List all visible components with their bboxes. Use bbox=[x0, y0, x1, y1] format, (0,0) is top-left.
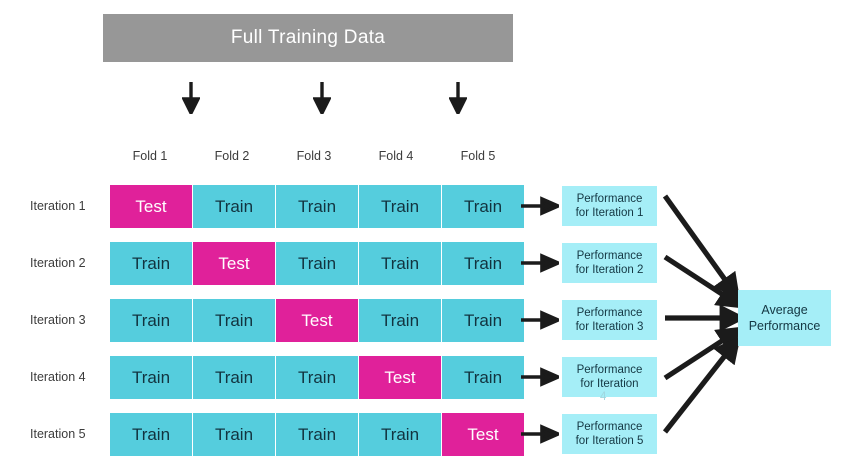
performance-box-1: Performance for Iteration 1 bbox=[562, 186, 657, 226]
full-training-data-label: Full Training Data bbox=[231, 27, 385, 49]
row-arrow-right-icon-2 bbox=[521, 252, 559, 274]
fold-cell-r5-c4: Train bbox=[359, 413, 441, 456]
row-arrow-right-icon-5 bbox=[521, 423, 559, 445]
row-arrow-right-icon-3 bbox=[521, 309, 559, 331]
average-performance-line1: Average bbox=[761, 302, 807, 318]
fold-header-5: Fold 5 bbox=[437, 149, 519, 163]
fold-cell-r5-c2: Train bbox=[193, 413, 275, 456]
fold-cell-r1-c4: Train bbox=[359, 185, 441, 228]
performance-box-3: Performance for Iteration 3 bbox=[562, 300, 657, 340]
fold-header-3: Fold 3 bbox=[273, 149, 355, 163]
fold-cell-r2-c1: Train bbox=[110, 242, 192, 285]
fold-header-1: Fold 1 bbox=[109, 149, 191, 163]
row-arrow-right-icon-4 bbox=[521, 366, 559, 388]
performance-box-4-clipped-digit: 4 bbox=[600, 391, 606, 403]
split-arrow-down-icon-3 bbox=[449, 82, 467, 114]
fold-cell-r3-c1: Train bbox=[110, 299, 192, 342]
performance-box-3-line2: for Iteration 3 bbox=[576, 320, 644, 334]
performance-box-5-line1: Performance bbox=[577, 420, 643, 434]
split-arrow-down-icon-1 bbox=[182, 82, 200, 114]
fold-cell-r4-c3: Train bbox=[276, 356, 358, 399]
fold-cell-r2-c4: Train bbox=[359, 242, 441, 285]
fold-cell-r3-c4: Train bbox=[359, 299, 441, 342]
iteration-label-1: Iteration 1 bbox=[30, 185, 100, 228]
fold-cell-r4-c1: Train bbox=[110, 356, 192, 399]
fold-cell-r4-c2: Train bbox=[193, 356, 275, 399]
performance-box-2-line2: for Iteration 2 bbox=[576, 263, 644, 277]
fold-cell-r5-c5: Test bbox=[442, 413, 524, 456]
fold-cell-r1-c5: Train bbox=[442, 185, 524, 228]
iteration-label-3: Iteration 3 bbox=[30, 299, 100, 342]
iteration-label-5: Iteration 5 bbox=[30, 413, 100, 456]
fold-cell-r3-c3: Test bbox=[276, 299, 358, 342]
average-performance-line2: Performance bbox=[749, 318, 821, 334]
row-arrow-right-icon-1 bbox=[521, 195, 559, 217]
converge-arrow-5 bbox=[665, 348, 731, 432]
fold-cell-r1-c3: Train bbox=[276, 185, 358, 228]
performance-box-2: Performance for Iteration 2 bbox=[562, 243, 657, 283]
converge-arrow-1 bbox=[665, 196, 731, 288]
fold-cell-r2-c3: Train bbox=[276, 242, 358, 285]
average-performance-box: Average Performance bbox=[738, 290, 831, 346]
iteration-label-2: Iteration 2 bbox=[30, 242, 100, 285]
fold-cell-r2-c2: Test bbox=[193, 242, 275, 285]
iteration-label-4: Iteration 4 bbox=[30, 356, 100, 399]
fold-cell-r4-c4: Test bbox=[359, 356, 441, 399]
fold-header-2: Fold 2 bbox=[191, 149, 273, 163]
performance-box-4-line1: Performance bbox=[577, 363, 643, 377]
fold-cell-r3-c2: Train bbox=[193, 299, 275, 342]
performance-box-1-line2: for Iteration 1 bbox=[576, 206, 644, 220]
fold-cell-r2-c5: Train bbox=[442, 242, 524, 285]
fold-cell-r1-c1: Test bbox=[110, 185, 192, 228]
performance-box-5-line2: for Iteration 5 bbox=[576, 434, 644, 448]
converge-arrow-2 bbox=[665, 257, 731, 300]
kfold-diagram-canvas: Full Training Data Fold 1 Fold 2 Fold 3 … bbox=[0, 0, 845, 475]
split-arrow-down-icon-2 bbox=[313, 82, 331, 114]
fold-cell-r5-c1: Train bbox=[110, 413, 192, 456]
performance-box-4-line2: for Iteration bbox=[580, 377, 638, 391]
fold-cell-r3-c5: Train bbox=[442, 299, 524, 342]
fold-cell-r5-c3: Train bbox=[276, 413, 358, 456]
performance-box-2-line1: Performance bbox=[577, 249, 643, 263]
fold-cell-r1-c2: Train bbox=[193, 185, 275, 228]
converging-arrows-group bbox=[0, 0, 845, 475]
performance-box-5: Performance for Iteration 5 bbox=[562, 414, 657, 454]
performance-box-1-line1: Performance bbox=[577, 192, 643, 206]
fold-header-4: Fold 4 bbox=[355, 149, 437, 163]
converge-arrow-4 bbox=[665, 335, 731, 378]
full-training-data-bar: Full Training Data bbox=[103, 14, 513, 62]
performance-box-4: Performance for Iteration bbox=[562, 357, 657, 397]
fold-cell-r4-c5: Train bbox=[442, 356, 524, 399]
performance-box-3-line1: Performance bbox=[577, 306, 643, 320]
